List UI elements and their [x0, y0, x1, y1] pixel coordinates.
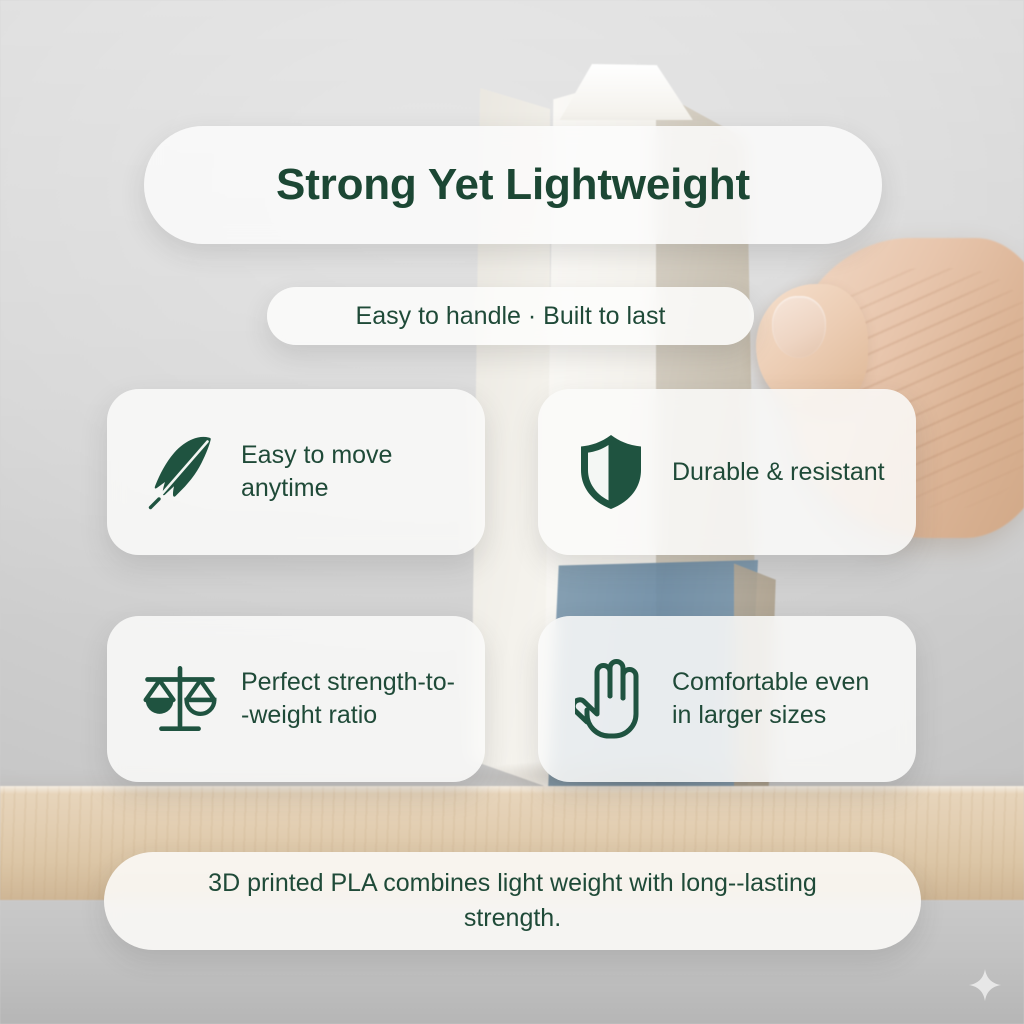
title-pill: Strong Yet Lightweight [144, 126, 882, 244]
feature-card-comfort[interactable]: Comfortable even in larger sizes [538, 616, 916, 782]
shield-icon [572, 429, 650, 515]
infographic-canvas: Strong Yet Lightweight Easy to handle · … [0, 0, 1024, 1024]
subtitle-pill: Easy to handle · Built to last [267, 287, 754, 345]
caption-pill: 3D printed PLA combines light weight wit… [104, 852, 921, 950]
feature-card-ratio[interactable]: Perfect strength-to--weight ratio [107, 616, 485, 782]
page-subtitle: Easy to handle · Built to last [356, 302, 666, 331]
caption-text: 3D printed PLA combines light weight wit… [160, 866, 865, 937]
feature-label-durable: Durable & resistant [672, 456, 885, 489]
sparkle-icon [968, 968, 1002, 1002]
feature-card-move[interactable]: Easy to move anytime [107, 389, 485, 555]
overlay-layer: Strong Yet Lightweight Easy to handle · … [0, 0, 1024, 1024]
feature-label-ratio: Perfect strength-to--weight ratio [241, 666, 461, 732]
feature-label-move: Easy to move anytime [241, 439, 461, 505]
open-hand-icon [572, 656, 650, 742]
page-title: Strong Yet Lightweight [276, 160, 750, 210]
balance-scales-icon [141, 656, 219, 742]
feather-icon [141, 429, 219, 515]
feature-label-comfort: Comfortable even in larger sizes [672, 666, 892, 732]
feature-card-durable[interactable]: Durable & resistant [538, 389, 916, 555]
